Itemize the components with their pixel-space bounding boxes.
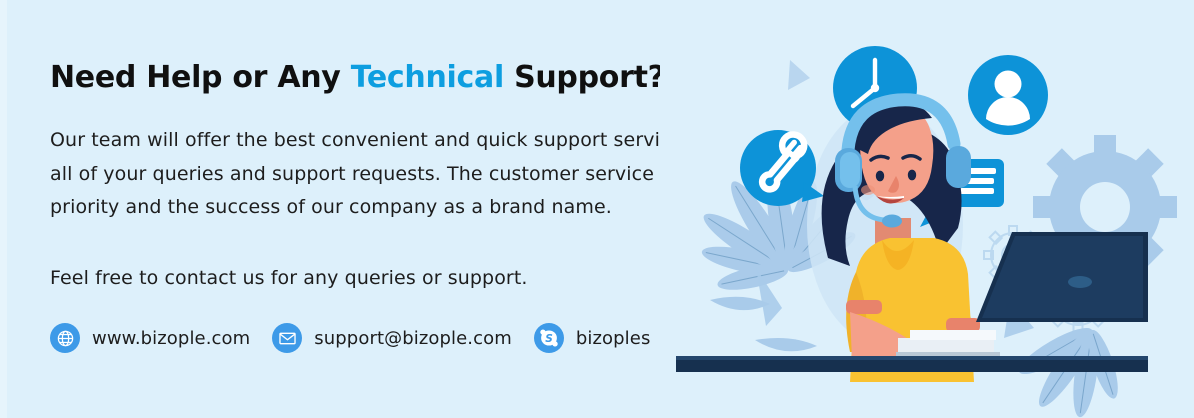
body-paragraph-primary: Our team will offer the best convenient …: [50, 124, 730, 225]
headline-part-2: Support?: [504, 60, 665, 95]
laptop-logo: [1068, 276, 1092, 288]
text-column: Need Help or Any Technical Support? Our …: [50, 0, 740, 418]
svg-text:S: S: [545, 333, 553, 345]
left-edge-strip: [0, 0, 7, 418]
contact-item-skype[interactable]: S bizoples: [534, 319, 651, 357]
contact-label-website: www.bizople.com: [92, 328, 250, 349]
skype-icon: S: [534, 323, 564, 353]
globe-icon: [50, 323, 80, 353]
contact-label-skype: bizoples: [576, 328, 651, 349]
contact-item-email[interactable]: support@bizople.com: [272, 319, 512, 357]
page-title: Need Help or Any Technical Support?: [50, 60, 665, 95]
customer-support-illustration: [660, 0, 1194, 418]
user-avatar-icon: [968, 55, 1048, 135]
envelope-icon: [272, 323, 302, 353]
support-banner: Need Help or Any Technical Support? Our …: [0, 0, 1194, 418]
headline-accent-word: Technical: [351, 60, 504, 95]
headline-part-1: Need Help or Any: [50, 60, 351, 95]
contact-row: www.bizople.com support@bizople.com: [50, 319, 650, 357]
body-paragraph-secondary: Feel free to contact us for any queries …: [50, 263, 710, 293]
contact-item-website[interactable]: www.bizople.com: [50, 319, 250, 357]
contact-label-email: support@bizople.com: [314, 328, 512, 349]
